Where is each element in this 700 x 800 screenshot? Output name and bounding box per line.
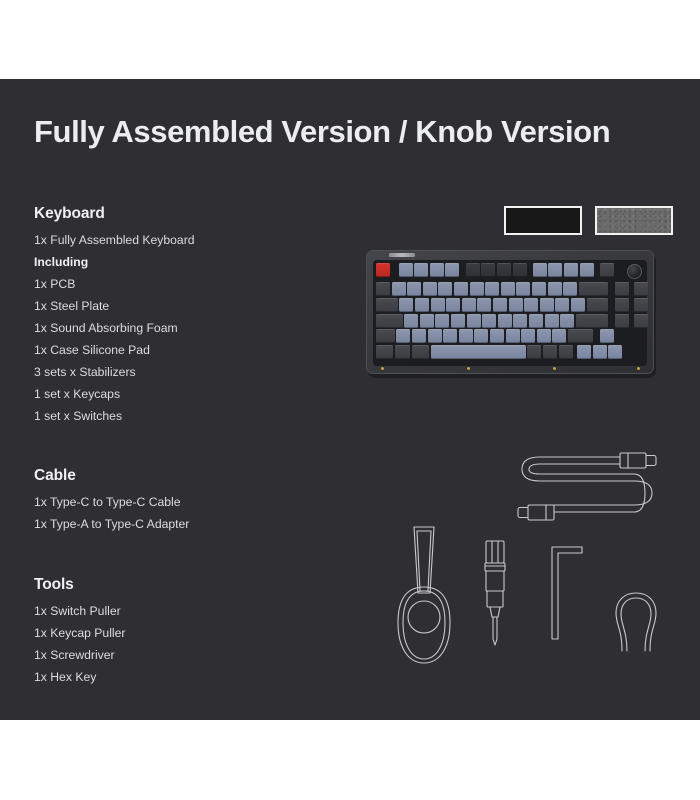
- keyboard-key: [376, 263, 390, 277]
- keyboard-key: [516, 282, 530, 296]
- keyboard-key: [399, 263, 413, 277]
- keyboard-key: [564, 263, 578, 277]
- keyboard-key: [428, 329, 442, 343]
- keyboard-key: [459, 329, 473, 343]
- keyboard-key: [477, 298, 491, 312]
- section-heading-cable: Cable: [34, 467, 189, 485]
- section-list-tools: 1x Switch Puller 1x Keycap Puller 1x Scr…: [34, 600, 125, 688]
- case-screw-icon: [381, 367, 384, 370]
- hex-key-icon: [552, 547, 582, 639]
- rotary-knob[interactable]: [627, 264, 642, 279]
- list-item: Including: [34, 251, 195, 273]
- keyboard-key: [399, 298, 413, 312]
- tools-illustration: [396, 525, 658, 667]
- keyboard-badge: [389, 253, 415, 257]
- keyboard-key: [608, 345, 622, 359]
- keyboard-key: [529, 314, 543, 328]
- keyboard-key: [431, 345, 526, 359]
- keyboard-key: [560, 314, 574, 328]
- keyboard-key: [485, 282, 499, 296]
- page-title: Fully Assembled Version / Knob Version: [34, 114, 610, 150]
- keycap-puller-wire-icon: [616, 593, 656, 651]
- keyboard-key: [466, 263, 480, 277]
- switch-puller-icon: [398, 527, 450, 663]
- keyboard-product-image: [366, 250, 658, 380]
- keyboard-key: [563, 282, 577, 296]
- keyboard-key: [438, 282, 452, 296]
- keyboard-key: [587, 298, 609, 312]
- keyboard-key: [376, 314, 403, 328]
- list-item: 1 set x Keycaps: [34, 383, 195, 405]
- keyboard-key: [524, 298, 538, 312]
- keyboard-key: [376, 282, 390, 296]
- case-screw-icon: [467, 367, 470, 370]
- keyboard-key: [481, 263, 495, 277]
- keyboard-key: [420, 314, 434, 328]
- keyboard-key: [548, 282, 562, 296]
- list-item: 1x PCB: [34, 273, 195, 295]
- keyboard-key: [615, 314, 629, 328]
- cable-illustration: [508, 443, 668, 535]
- case-screw-icon: [637, 367, 640, 370]
- section-cable: Cable 1x Type-C to Type-C Cable 1x Type-…: [34, 467, 189, 535]
- color-swatch-frosted-silver-gray[interactable]: [595, 206, 673, 235]
- keyboard-key: [376, 298, 398, 312]
- section-list-keyboard: 1x Fully Assembled Keyboard Including 1x…: [34, 229, 195, 427]
- list-item: 1x Case Silicone Pad: [34, 339, 195, 361]
- keyboard-key: [462, 298, 476, 312]
- keyboard-key: [634, 298, 648, 312]
- keyboard-key: [470, 282, 484, 296]
- keyboard-key: [431, 298, 445, 312]
- keyboard-key: [454, 282, 468, 296]
- product-contents-panel: Fully Assembled Version / Knob Version K…: [0, 79, 700, 720]
- keyboard-key: [412, 329, 426, 343]
- keyboard-key: [376, 345, 393, 359]
- keyboard-key: [577, 345, 591, 359]
- list-item: 1x Switch Puller: [34, 600, 125, 622]
- keyboard-key: [443, 329, 457, 343]
- keyboard-key: [467, 314, 481, 328]
- keyboard-key: [395, 345, 411, 359]
- keyboard-key: [474, 329, 488, 343]
- keyboard-key: [513, 314, 527, 328]
- keyboard-key: [430, 263, 444, 277]
- keyboard-key: [545, 314, 559, 328]
- keyboard-key: [435, 314, 449, 328]
- keyboard-key: [532, 282, 546, 296]
- keyboard-key: [506, 329, 520, 343]
- list-item: 1x Type-C to Type-C Cable: [34, 491, 189, 513]
- keyboard-key: [423, 282, 437, 296]
- keyboard-key: [533, 263, 547, 277]
- keyboard-key: [548, 263, 562, 277]
- keyboard-key: [615, 298, 629, 312]
- keyboard-key: [376, 329, 395, 343]
- keyboard-key: [451, 314, 465, 328]
- section-heading-tools: Tools: [34, 576, 125, 594]
- case-screw-icon: [553, 367, 556, 370]
- keyboard-key: [509, 298, 523, 312]
- keyboard-key: [521, 329, 535, 343]
- list-item: 1x Keycap Puller: [34, 622, 125, 644]
- keyboard-key: [552, 329, 566, 343]
- list-item: 1x Steel Plate: [34, 295, 195, 317]
- keyboard-key: [412, 345, 429, 359]
- keyboard-key: [540, 298, 554, 312]
- section-list-cable: 1x Type-C to Type-C Cable 1x Type-A to T…: [34, 491, 189, 535]
- list-item: 1x Screwdriver: [34, 644, 125, 666]
- keyboard-key: [445, 263, 459, 277]
- keyboard-key: [414, 263, 428, 277]
- keyboard-keywell: [373, 260, 647, 366]
- keyboard-case: [366, 250, 654, 374]
- keyboard-key: [555, 298, 569, 312]
- keyboard-key: [446, 298, 460, 312]
- keyboard-key: [537, 329, 551, 343]
- list-item: 1x Type-A to Type-C Adapter: [34, 513, 189, 535]
- keyboard-key: [498, 314, 512, 328]
- keyboard-key: [392, 282, 406, 296]
- list-item: 1x Fully Assembled Keyboard: [34, 229, 195, 251]
- keyboard-key: [501, 282, 515, 296]
- keyboard-key: [634, 314, 648, 328]
- keyboard-key: [615, 282, 629, 296]
- section-tools: Tools 1x Switch Puller 1x Keycap Puller …: [34, 576, 125, 688]
- keyboard-key: [482, 314, 496, 328]
- keyboard-key: [600, 263, 614, 277]
- keyboard-key: [490, 329, 504, 343]
- keyboard-key: [543, 345, 557, 359]
- list-item: 3 sets x Stabilizers: [34, 361, 195, 383]
- list-item: 1x Sound Absorbing Foam: [34, 317, 195, 339]
- keyboard-key: [634, 282, 648, 296]
- keyboard-key: [571, 298, 585, 312]
- screwdriver-icon: [485, 541, 505, 645]
- keyboard-key: [415, 298, 429, 312]
- keyboard-key: [527, 345, 541, 359]
- keyboard-key: [493, 298, 507, 312]
- keyboard-key: [576, 314, 609, 328]
- keyboard-key: [396, 329, 410, 343]
- keyboard-key: [579, 282, 609, 296]
- keyboard-key: [559, 345, 573, 359]
- color-swatch-group: [504, 206, 673, 235]
- keyboard-key: [600, 329, 614, 343]
- keyboard-key: [568, 329, 593, 343]
- keyboard-key: [513, 263, 527, 277]
- section-keyboard: Keyboard 1x Fully Assembled Keyboard Inc…: [34, 205, 195, 427]
- keyboard-key: [580, 263, 594, 277]
- keyboard-key: [404, 314, 418, 328]
- list-item: 1x Hex Key: [34, 666, 125, 688]
- keyboard-key: [593, 345, 607, 359]
- color-swatch-carbon-black[interactable]: [504, 206, 582, 235]
- keyboard-key: [497, 263, 511, 277]
- list-item: 1 set x Switches: [34, 405, 195, 427]
- section-heading-keyboard: Keyboard: [34, 205, 195, 223]
- keyboard-key: [407, 282, 421, 296]
